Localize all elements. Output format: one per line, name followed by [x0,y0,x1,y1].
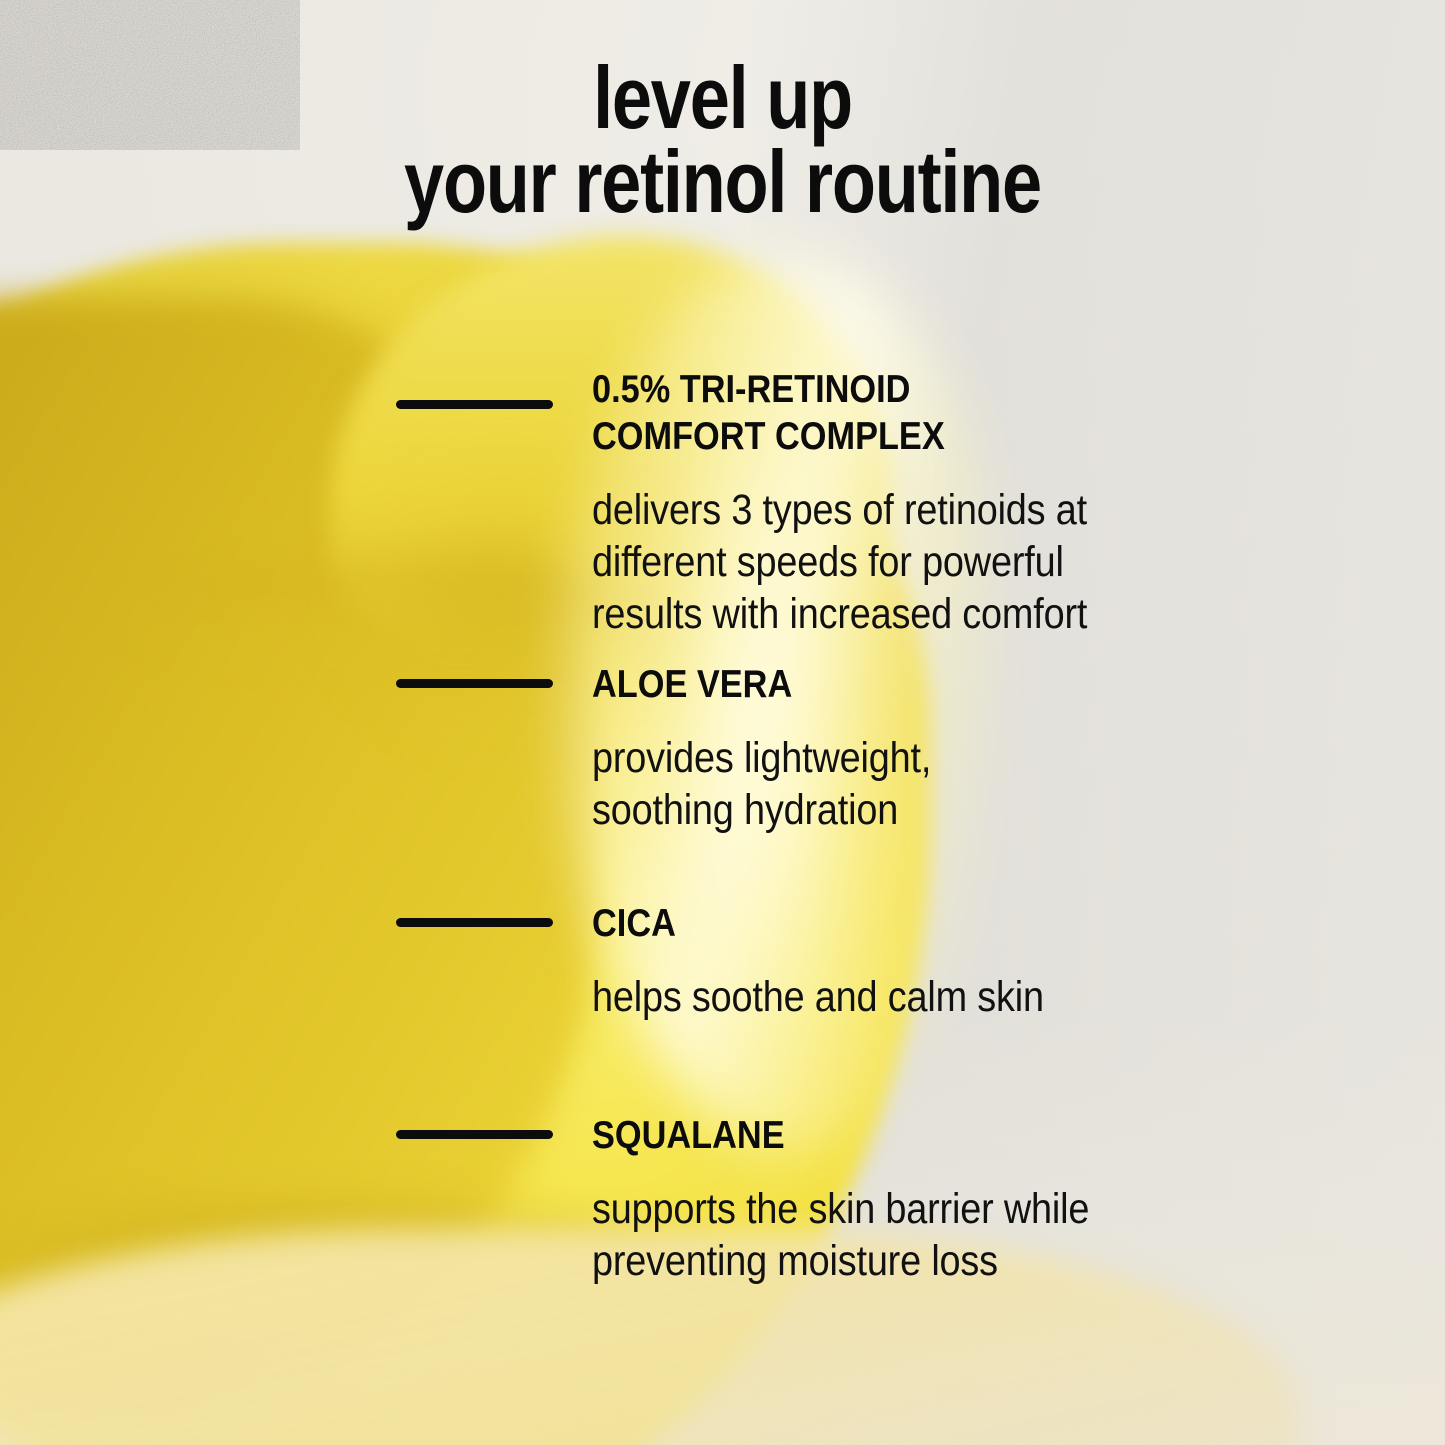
ingredient-description: provides lightweight, soothing hydration [592,732,1155,836]
ingredient-text-block: ALOE VERA provides lightweight, soothing… [592,661,1232,836]
horizontal-dash-icon [396,679,553,688]
ingredient-heading: ALOE VERA [592,661,1155,708]
ingredient-heading: CICA [592,900,1155,947]
ingredient-description: delivers 3 types of retinoids at differe… [592,484,1155,640]
product-infographic-canvas: level up your retinol routine 0.5% TRI-R… [0,0,1445,1445]
ingredient-description: supports the skin barrier while preventi… [592,1183,1155,1287]
horizontal-dash-icon [396,1130,553,1139]
ingredient-heading: SQUALANE [592,1112,1155,1159]
ingredient-text-block: CICA helps soothe and calm skin [592,900,1232,1023]
spacer [592,1159,1232,1183]
spacer [592,460,1232,484]
horizontal-dash-icon [396,400,553,409]
horizontal-dash-icon [396,918,553,927]
ingredient-list: 0.5% TRI-RETINOID COMFORT COMPLEX delive… [0,0,1445,1445]
ingredient-heading: 0.5% TRI-RETINOID COMFORT COMPLEX [592,366,1155,460]
spacer [592,708,1232,732]
ingredient-description: helps soothe and calm skin [592,971,1155,1023]
ingredient-text-block: 0.5% TRI-RETINOID COMFORT COMPLEX delive… [592,366,1232,640]
ingredient-text-block: SQUALANE supports the skin barrier while… [592,1112,1232,1287]
spacer [592,947,1232,971]
